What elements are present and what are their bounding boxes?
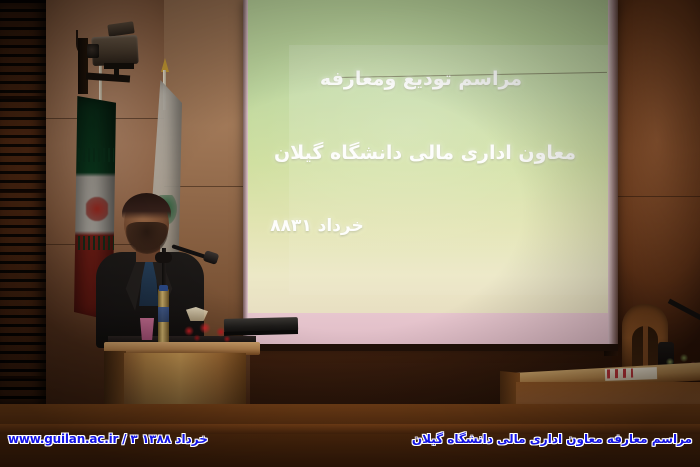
caption-event-title: مراسم معارفه معاون اداری مالی دانشگاه گی… (412, 432, 692, 446)
caption-website-date: www.guilan.ac.ir / ۳ خرداد ۱۳۸۸ (8, 432, 208, 446)
panel-seam (0, 288, 46, 291)
stone-seam (612, 196, 700, 197)
flag-script-band (78, 236, 114, 250)
panel-seam (0, 96, 46, 99)
slide-subtitle-line: معاون اداری مالی دانشگاه گیلان (247, 142, 603, 164)
camera-mount-plate (104, 63, 134, 69)
water-bottle-cap (159, 285, 168, 291)
projection-screen-lower-band (247, 313, 612, 348)
screen-edge-right (608, 0, 618, 348)
screen-edge-left (243, 0, 248, 348)
slatted-acoustic-panel (0, 0, 46, 404)
camera-mount-post (114, 66, 119, 78)
flag-emblem-iran (86, 196, 108, 222)
projection-screen-surface: مراسم توديع ومعارفه معاون اداری مالی دان… (247, 0, 612, 313)
screen-bottom-bar (243, 344, 618, 351)
slide-title-line: مراسم توديع ومعارفه (247, 68, 595, 90)
panel-seam (0, 190, 46, 193)
book-cover-pattern (607, 369, 633, 379)
camera-lens-icon (87, 44, 99, 58)
water-bottle-label (158, 307, 169, 322)
slide-date-line: خرداد ۱۳۸۸ (247, 216, 387, 236)
microphone-joint (155, 252, 172, 263)
conference-photo: مراسم توديع ومعارفه معاون اداری مالی دان… (0, 0, 700, 467)
flag-script-band (78, 148, 114, 162)
projection-screen: مراسم توديع ومعارفه معاون اداری مالی دان… (243, 0, 618, 348)
panel-seam (0, 376, 46, 379)
